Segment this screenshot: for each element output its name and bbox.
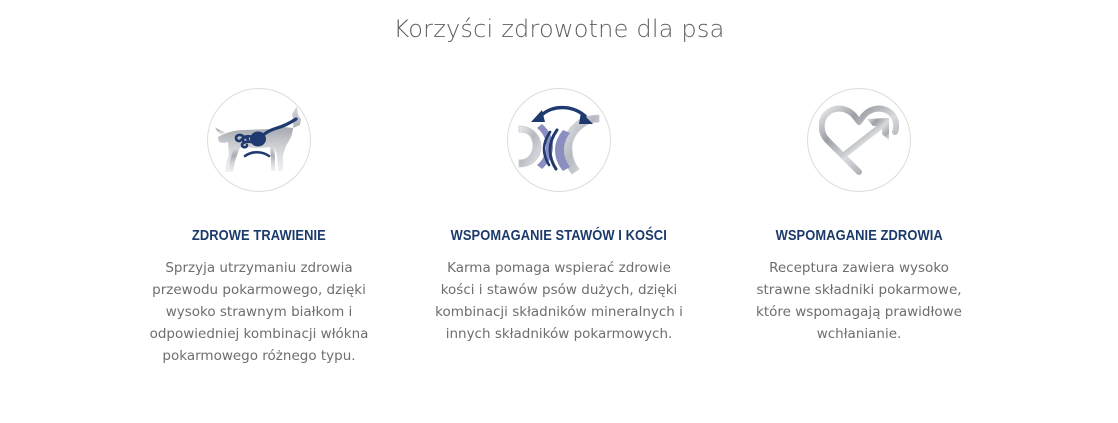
icon-circle-health: [807, 88, 911, 192]
health-benefits-section: Korzyści zdrowotne dla psa: [0, 0, 1118, 423]
benefit-body-joints: Karma pomaga wspierać zdrowie kości i st…: [434, 257, 684, 345]
benefit-cards-row: ZDROWE TRAWIENIE Sprzyja utrzymaniu zdro…: [0, 88, 1118, 367]
benefit-card-health: WSPOMAGANIE ZDROWIA Receptura zawiera wy…: [709, 88, 1009, 345]
joint-cartilage-icon: [517, 100, 601, 180]
icon-circle-digestion: [207, 88, 311, 192]
benefit-body-digestion: Sprzyja utrzymaniu zdrowia przewodu poka…: [143, 257, 375, 367]
benefit-heading-joints: WSPOMAGANIE STAWÓW I KOŚCI: [451, 227, 667, 245]
benefit-heading-health: WSPOMAGANIE ZDROWIA: [775, 227, 942, 245]
heart-arrow-icon: [819, 102, 899, 178]
dog-digestive-tract-icon: [214, 101, 304, 179]
benefit-card-joints: WSPOMAGANIE STAWÓW I KOŚCI Karma pomaga …: [409, 88, 709, 345]
icon-circle-joints: [507, 88, 611, 192]
benefit-card-digestion: ZDROWE TRAWIENIE Sprzyja utrzymaniu zdro…: [109, 88, 409, 367]
page-title: Korzyści zdrowotne dla psa: [0, 14, 1118, 44]
benefit-body-health: Receptura zawiera wysoko strawne składni…: [743, 257, 975, 345]
benefit-heading-digestion: ZDROWE TRAWIENIE: [192, 227, 326, 245]
